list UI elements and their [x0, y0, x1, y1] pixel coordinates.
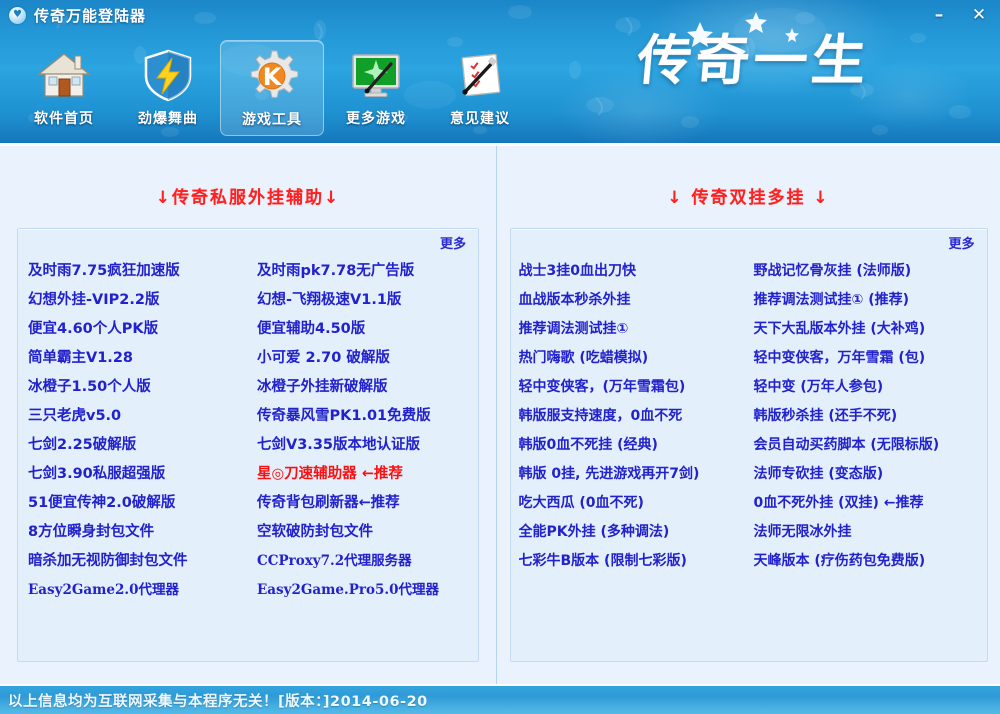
list-item[interactable]: 小可爱 2.70 破解版: [249, 344, 470, 373]
list-item[interactable]: 传奇背包刷新器←推荐: [249, 489, 470, 518]
right-column: ↓ 传奇双挂多挂 ↓ 更多 战士3挂0血出刀快野战记忆骨灰挂 (法师版)血战版本…: [497, 146, 1000, 684]
list-item[interactable]: 会员自动买药脚本 (无限标版): [750, 431, 981, 460]
list-item[interactable]: 全能PK外挂 (多种调法): [519, 518, 750, 547]
list-item[interactable]: 星◎刀速辅助器 ←推荐: [249, 460, 470, 489]
notepad-pen-icon: [451, 46, 509, 104]
list-item[interactable]: 热门嗨歌 (吃蜡模拟): [519, 344, 750, 373]
list-item[interactable]: 战士3挂0血出刀快: [519, 257, 750, 286]
list-item[interactable]: 简单霸主V1.28: [28, 344, 249, 373]
list-item[interactable]: 韩版服支持速度，0血不死: [519, 402, 750, 431]
window-title: 传奇万能登陆器: [34, 5, 146, 26]
list-item[interactable]: 推荐调法测试挂① (推荐): [750, 286, 981, 315]
left-item-grid: 及时雨7.75疯狂加速版及时雨pk7.78无广告版幻想外挂-VIP2.2版幻想-…: [28, 257, 470, 605]
list-item[interactable]: 轻中变侠客，万年雪霜 (包): [750, 344, 981, 373]
house-icon: [35, 46, 93, 104]
list-item[interactable]: 暗杀加无视防御封包文件: [28, 547, 249, 576]
list-item[interactable]: 0血不死外挂 (双挂) ←推荐: [750, 489, 981, 518]
list-item[interactable]: 天下大乱版本外挂 (大补鸡): [750, 315, 981, 344]
list-item[interactable]: 三只老虎v5.0: [28, 402, 249, 431]
list-item[interactable]: 幻想外挂-VIP2.2版: [28, 286, 249, 315]
list-item[interactable]: 血战版本秒杀外挂: [519, 286, 750, 315]
list-item[interactable]: 便宜辅助4.50版: [249, 315, 470, 344]
heart-icon: ♥: [9, 7, 26, 24]
list-item[interactable]: 法师专砍挂 (变态版): [750, 460, 981, 489]
status-bar: 以上信息均为互联网采集与本程序无关！[版本：]2014-06-20: [0, 684, 1000, 714]
header-banner: 传奇一生 ♥ 传奇万能登陆器 – ✕: [0, 0, 1000, 143]
list-item[interactable]: Easy2Game2.0代理器: [28, 576, 249, 605]
list-item[interactable]: 空软破防封包文件: [249, 518, 470, 547]
list-item[interactable]: 七彩牛B版本 (限制七彩版): [519, 547, 750, 576]
right-item-grid: 战士3挂0血出刀快野战记忆骨灰挂 (法师版)血战版本秒杀外挂推荐调法测试挂① (…: [519, 257, 981, 576]
list-item[interactable]: 8方位瞬身封包文件: [28, 518, 249, 547]
list-item[interactable]: 吃大西瓜 (0血不死): [519, 489, 750, 518]
list-item[interactable]: 韩版0血不死挂 (经典): [519, 431, 750, 460]
content-area: ↓传奇私服外挂辅助↓ 更多 及时雨7.75疯狂加速版及时雨pk7.78无广告版幻…: [0, 143, 1000, 684]
gear-k-icon: K: [243, 47, 301, 105]
right-list-panel: 更多 战士3挂0血出刀快野战记忆骨灰挂 (法师版)血战版本秒杀外挂推荐调法测试挂…: [510, 228, 988, 662]
toolbar-label: 游戏工具: [242, 109, 302, 129]
shield-lightning-icon: [139, 46, 197, 104]
toolbar-item-more-games[interactable]: 更多游戏: [324, 40, 428, 136]
list-item[interactable]: 51便宜传神2.0破解版: [28, 489, 249, 518]
right-more-link[interactable]: 更多: [948, 233, 974, 252]
list-item[interactable]: 韩版秒杀挂 (还手不死): [750, 402, 981, 431]
toolbar-item-home[interactable]: 软件首页: [12, 40, 116, 136]
list-item[interactable]: 推荐调法测试挂①: [519, 315, 750, 344]
toolbar-label: 劲爆舞曲: [138, 108, 198, 128]
list-item[interactable]: 法师无限冰外挂: [750, 518, 981, 547]
toolbar-item-game-tools[interactable]: K 游戏工具: [220, 40, 324, 136]
left-column-heading: ↓传奇私服外挂辅助↓: [156, 183, 341, 208]
monitor-pen-icon: [347, 46, 405, 104]
list-item[interactable]: 野战记忆骨灰挂 (法师版): [750, 257, 981, 286]
toolbar-item-music[interactable]: 劲爆舞曲: [116, 40, 220, 136]
left-list-panel: 更多 及时雨7.75疯狂加速版及时雨pk7.78无广告版幻想外挂-VIP2.2版…: [17, 228, 479, 662]
list-item[interactable]: 七剑3.90私服超强版: [28, 460, 249, 489]
list-item[interactable]: 传奇暴风雪PK1.01免费版: [249, 402, 470, 431]
toolbar-item-feedback[interactable]: 意见建议: [428, 40, 532, 136]
list-item[interactable]: 轻中变侠客，(万年雪霜包): [519, 373, 750, 402]
right-column-heading: ↓ 传奇双挂多挂 ↓: [667, 183, 829, 208]
list-item[interactable]: Easy2Game.Pro5.0代理器: [249, 576, 470, 605]
list-item[interactable]: 便宜4.60个人PK版: [28, 315, 249, 344]
list-item[interactable]: 韩版 0挂, 先进游戏再开7剑): [519, 460, 750, 489]
toolbar-label: 更多游戏: [346, 108, 406, 128]
list-item[interactable]: 冰橙子1.50个人版: [28, 373, 249, 402]
list-item[interactable]: 幻想-飞翔极速V1.1版: [249, 286, 470, 315]
toolbar-label: 软件首页: [34, 108, 94, 128]
application-window: 传奇一生 ♥ 传奇万能登陆器 – ✕: [0, 0, 1000, 714]
list-item[interactable]: 七剑2.25破解版: [28, 431, 249, 460]
left-column: ↓传奇私服外挂辅助↓ 更多 及时雨7.75疯狂加速版及时雨pk7.78无广告版幻…: [0, 146, 497, 684]
list-item[interactable]: 冰橙子外挂新破解版: [249, 373, 470, 402]
toolbar-label: 意见建议: [450, 108, 510, 128]
svg-text:K: K: [263, 63, 283, 91]
left-more-link[interactable]: 更多: [440, 233, 466, 252]
status-bar-text: 以上信息均为互联网采集与本程序无关！[版本：]2014-06-20: [8, 690, 428, 711]
main-toolbar: 软件首页 劲爆舞曲: [12, 40, 532, 136]
list-item[interactable]: 及时雨7.75疯狂加速版: [28, 257, 249, 286]
list-item[interactable]: 轻中变 (万年人参包): [750, 373, 981, 402]
list-item[interactable]: 天峰版本 (疗伤药包免费版): [750, 547, 981, 576]
titlebar: ♥ 传奇万能登陆器: [0, 0, 1000, 30]
list-item[interactable]: 及时雨pk7.78无广告版: [249, 257, 470, 286]
list-item[interactable]: 七剑V3.35版本地认证版: [249, 431, 470, 460]
list-item[interactable]: CCProxy7.2代理服务器: [249, 547, 470, 576]
